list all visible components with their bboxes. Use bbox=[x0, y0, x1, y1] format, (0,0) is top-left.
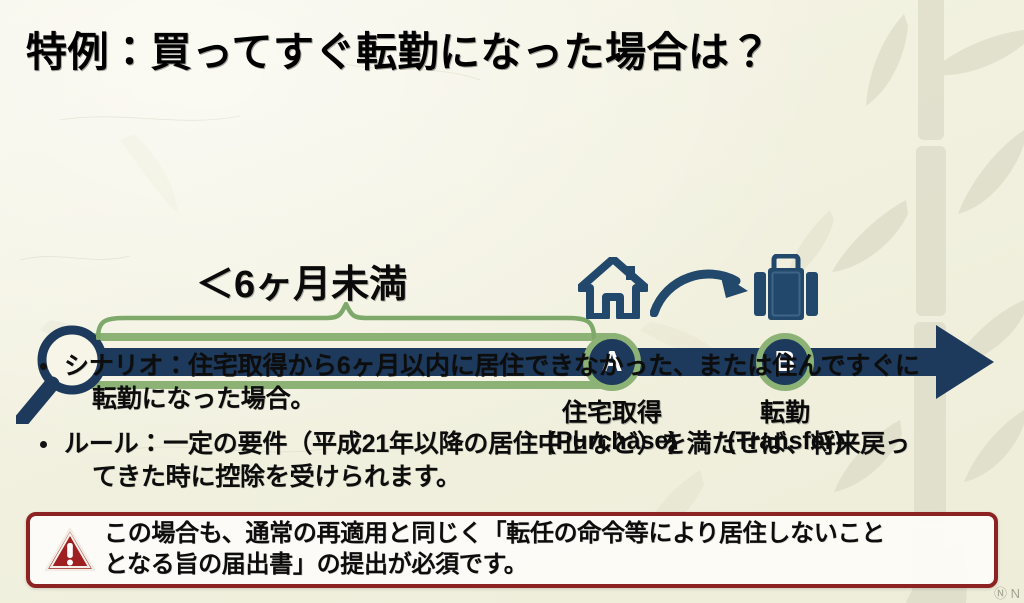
bullet-list: シナリオ：住宅取得から6ヶ月以内に居住できなかった、または住んですぐに 転勤にな… bbox=[28, 350, 1003, 493]
six-month-label: ＜6ヶ月未満 bbox=[196, 253, 407, 308]
bullet-rule: ルール：一定の要件（平成21年以降の居住中止など）を満たせば、将来戻っ てきた時… bbox=[28, 428, 1003, 493]
alert-text-line1: この場合も、通常の再適用と同じく「転任の命令等により居住しないこと bbox=[104, 520, 885, 547]
timeline-diagram: ＜6ヶ月未満 A 住宅取得 (Purchase) B bbox=[0, 120, 1024, 340]
slide-canvas: 特例：買ってすぐ転勤になった場合は？ ＜6ヶ月未満 bbox=[0, 0, 1024, 603]
curved-arrow-icon bbox=[650, 265, 752, 317]
bullet-scenario: シナリオ：住宅取得から6ヶ月以内に居住できなかった、または住んですぐに 転勤にな… bbox=[28, 350, 1003, 415]
alert-text-line2: となる旨の届出書」の提出が必須です。 bbox=[104, 550, 885, 581]
bullet-scenario-line1: シナリオ：住宅取得から6ヶ月以内に居住できなかった、または住んですぐに bbox=[64, 352, 920, 380]
warning-triangle-icon bbox=[44, 527, 96, 573]
bullet-scenario-line2: 転勤になった場合。 bbox=[64, 383, 1003, 416]
bullet-rule-line2: てきた時に控除を受けられます。 bbox=[64, 461, 1003, 494]
alert-text: この場合も、通常の再適用と同じく「転任の命令等により居住しないこと となる旨の届… bbox=[104, 519, 885, 580]
watermark: Ⓝ N bbox=[994, 583, 1020, 602]
page-title: 特例：買ってすぐ転勤になった場合は？ bbox=[26, 18, 771, 78]
alert-box: この場合も、通常の再適用と同じく「転任の命令等により居住しないこと となる旨の届… bbox=[26, 512, 998, 588]
bullet-rule-line1: ルール：一定の要件（平成21年以降の居住中止など）を満たせば、将来戻っ bbox=[64, 430, 910, 458]
suitcase-icon bbox=[752, 254, 820, 322]
house-icon bbox=[578, 257, 648, 319]
